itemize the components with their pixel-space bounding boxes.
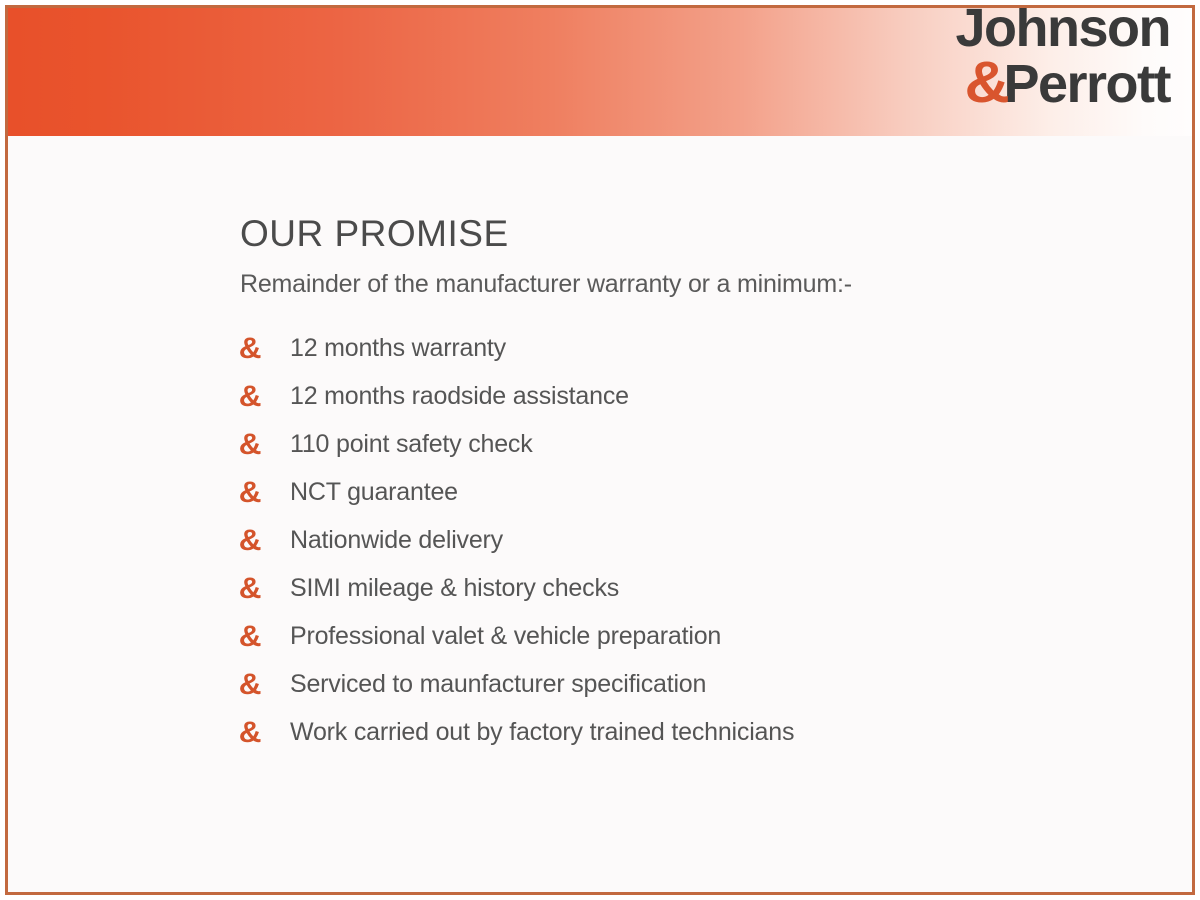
ampersand-bullet-icon: & — [239, 430, 292, 460]
list-item-label: 110 point safety check — [290, 430, 533, 459]
list-item-label: 12 months raodside assistance — [290, 382, 629, 411]
promise-poster: Johnson &Perrott OUR PROMISE Remainder o… — [0, 0, 1200, 900]
logo-text-perrott-row: &Perrott — [956, 56, 1171, 110]
list-item: & SIMI mileage & history checks — [240, 565, 1192, 613]
poster-frame: Johnson &Perrott OUR PROMISE Remainder o… — [5, 5, 1195, 895]
ampersand-bullet-icon: & — [239, 670, 292, 700]
ampersand-bullet-icon: & — [239, 526, 292, 556]
list-item-label: Professional valet & vehicle preparation — [290, 622, 721, 651]
ampersand-bullet-icon: & — [239, 478, 292, 508]
list-item-label: Serviced to maunfacturer specification — [290, 670, 706, 699]
johnson-perrott-logo: Johnson &Perrott — [956, 5, 1171, 109]
ampersand-bullet-icon: & — [239, 574, 292, 604]
list-item-label: Nationwide delivery — [290, 526, 503, 555]
list-item-label: 12 months warranty — [290, 334, 506, 363]
ampersand-bullet-icon: & — [239, 718, 292, 748]
ampersand-bullet-icon: & — [239, 334, 292, 364]
subtitle-text: Remainder of the manufacturer warranty o… — [240, 269, 1192, 299]
logo-text-johnson: Johnson — [956, 5, 1171, 54]
list-item: & NCT guarantee — [240, 469, 1192, 517]
page-title: OUR PROMISE — [240, 214, 1192, 255]
logo-text-perrott: Perrott — [1003, 54, 1170, 114]
content-area: OUR PROMISE Remainder of the manufacture… — [8, 136, 1192, 757]
list-item: & Work carried out by factory trained te… — [240, 709, 1192, 757]
header-band: Johnson &Perrott — [8, 8, 1192, 136]
list-item: & 12 months warranty — [240, 325, 1192, 373]
ampersand-bullet-icon: & — [239, 382, 292, 412]
list-item: & Nationwide delivery — [240, 517, 1192, 565]
list-item-label: NCT guarantee — [290, 478, 458, 507]
list-item: & 110 point safety check — [240, 421, 1192, 469]
promise-list: & 12 months warranty & 12 months raodsid… — [240, 325, 1192, 757]
list-item: & 12 months raodside assistance — [240, 373, 1192, 421]
list-item: & Professional valet & vehicle preparati… — [240, 613, 1192, 661]
list-item: & Serviced to maunfacturer specification — [240, 661, 1192, 709]
ampersand-bullet-icon: & — [239, 622, 292, 652]
ampersand-icon: & — [964, 56, 1005, 109]
list-item-label: SIMI mileage & history checks — [290, 574, 619, 603]
list-item-label: Work carried out by factory trained tech… — [290, 718, 794, 747]
